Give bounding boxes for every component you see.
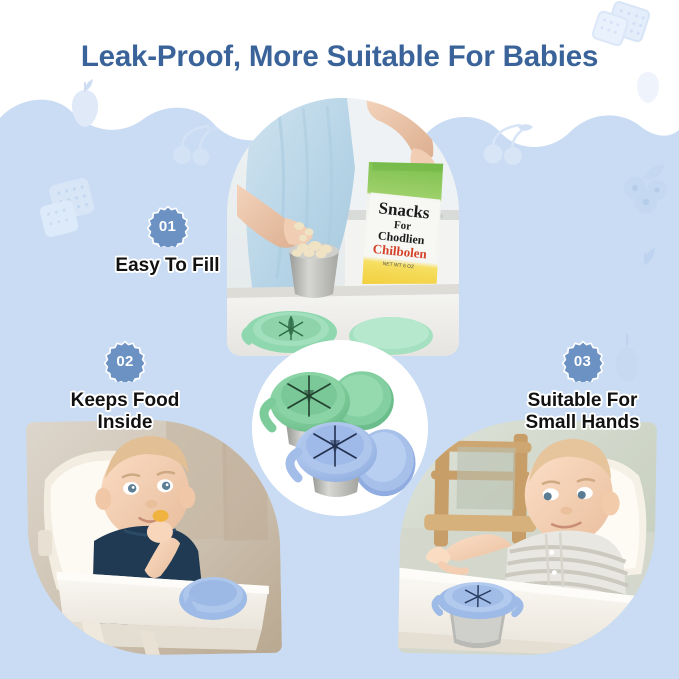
feature-number: 02 bbox=[104, 340, 146, 382]
infographic-canvas: Snacks For Chodlien Chilbolen NET WT 6 O… bbox=[0, 0, 679, 679]
baby-reaching-into-cup-photo bbox=[398, 418, 657, 657]
feature-number: 03 bbox=[562, 340, 604, 382]
feature-item-easy-to-fill: 01 Easy To Fill bbox=[85, 205, 250, 277]
scalloped-badge-icon: 02 bbox=[104, 340, 146, 382]
feature-label: Suitable For Small Hands bbox=[490, 390, 675, 435]
mother-filling-snack-cup-photo: Snacks For Chodlien Chilbolen NET WT 6 O… bbox=[227, 98, 459, 356]
feature-item-keeps-food-inside: 02 Keeps Food Inside bbox=[35, 340, 215, 435]
feature-item-suitable-for-small-hands: 03 Suitable For Small Hands bbox=[490, 340, 675, 435]
feature-label: Easy To Fill bbox=[85, 255, 250, 277]
baby-eating-snack-photo bbox=[26, 418, 282, 657]
feature-number: 01 bbox=[147, 205, 189, 247]
scalloped-badge-icon: 03 bbox=[562, 340, 604, 382]
scalloped-badge-icon: 01 bbox=[147, 205, 189, 247]
product-pair-photo bbox=[252, 340, 428, 516]
page-title: Leak-Proof, More Suitable For Babies bbox=[0, 40, 679, 74]
feature-label: Keeps Food Inside bbox=[35, 390, 215, 435]
